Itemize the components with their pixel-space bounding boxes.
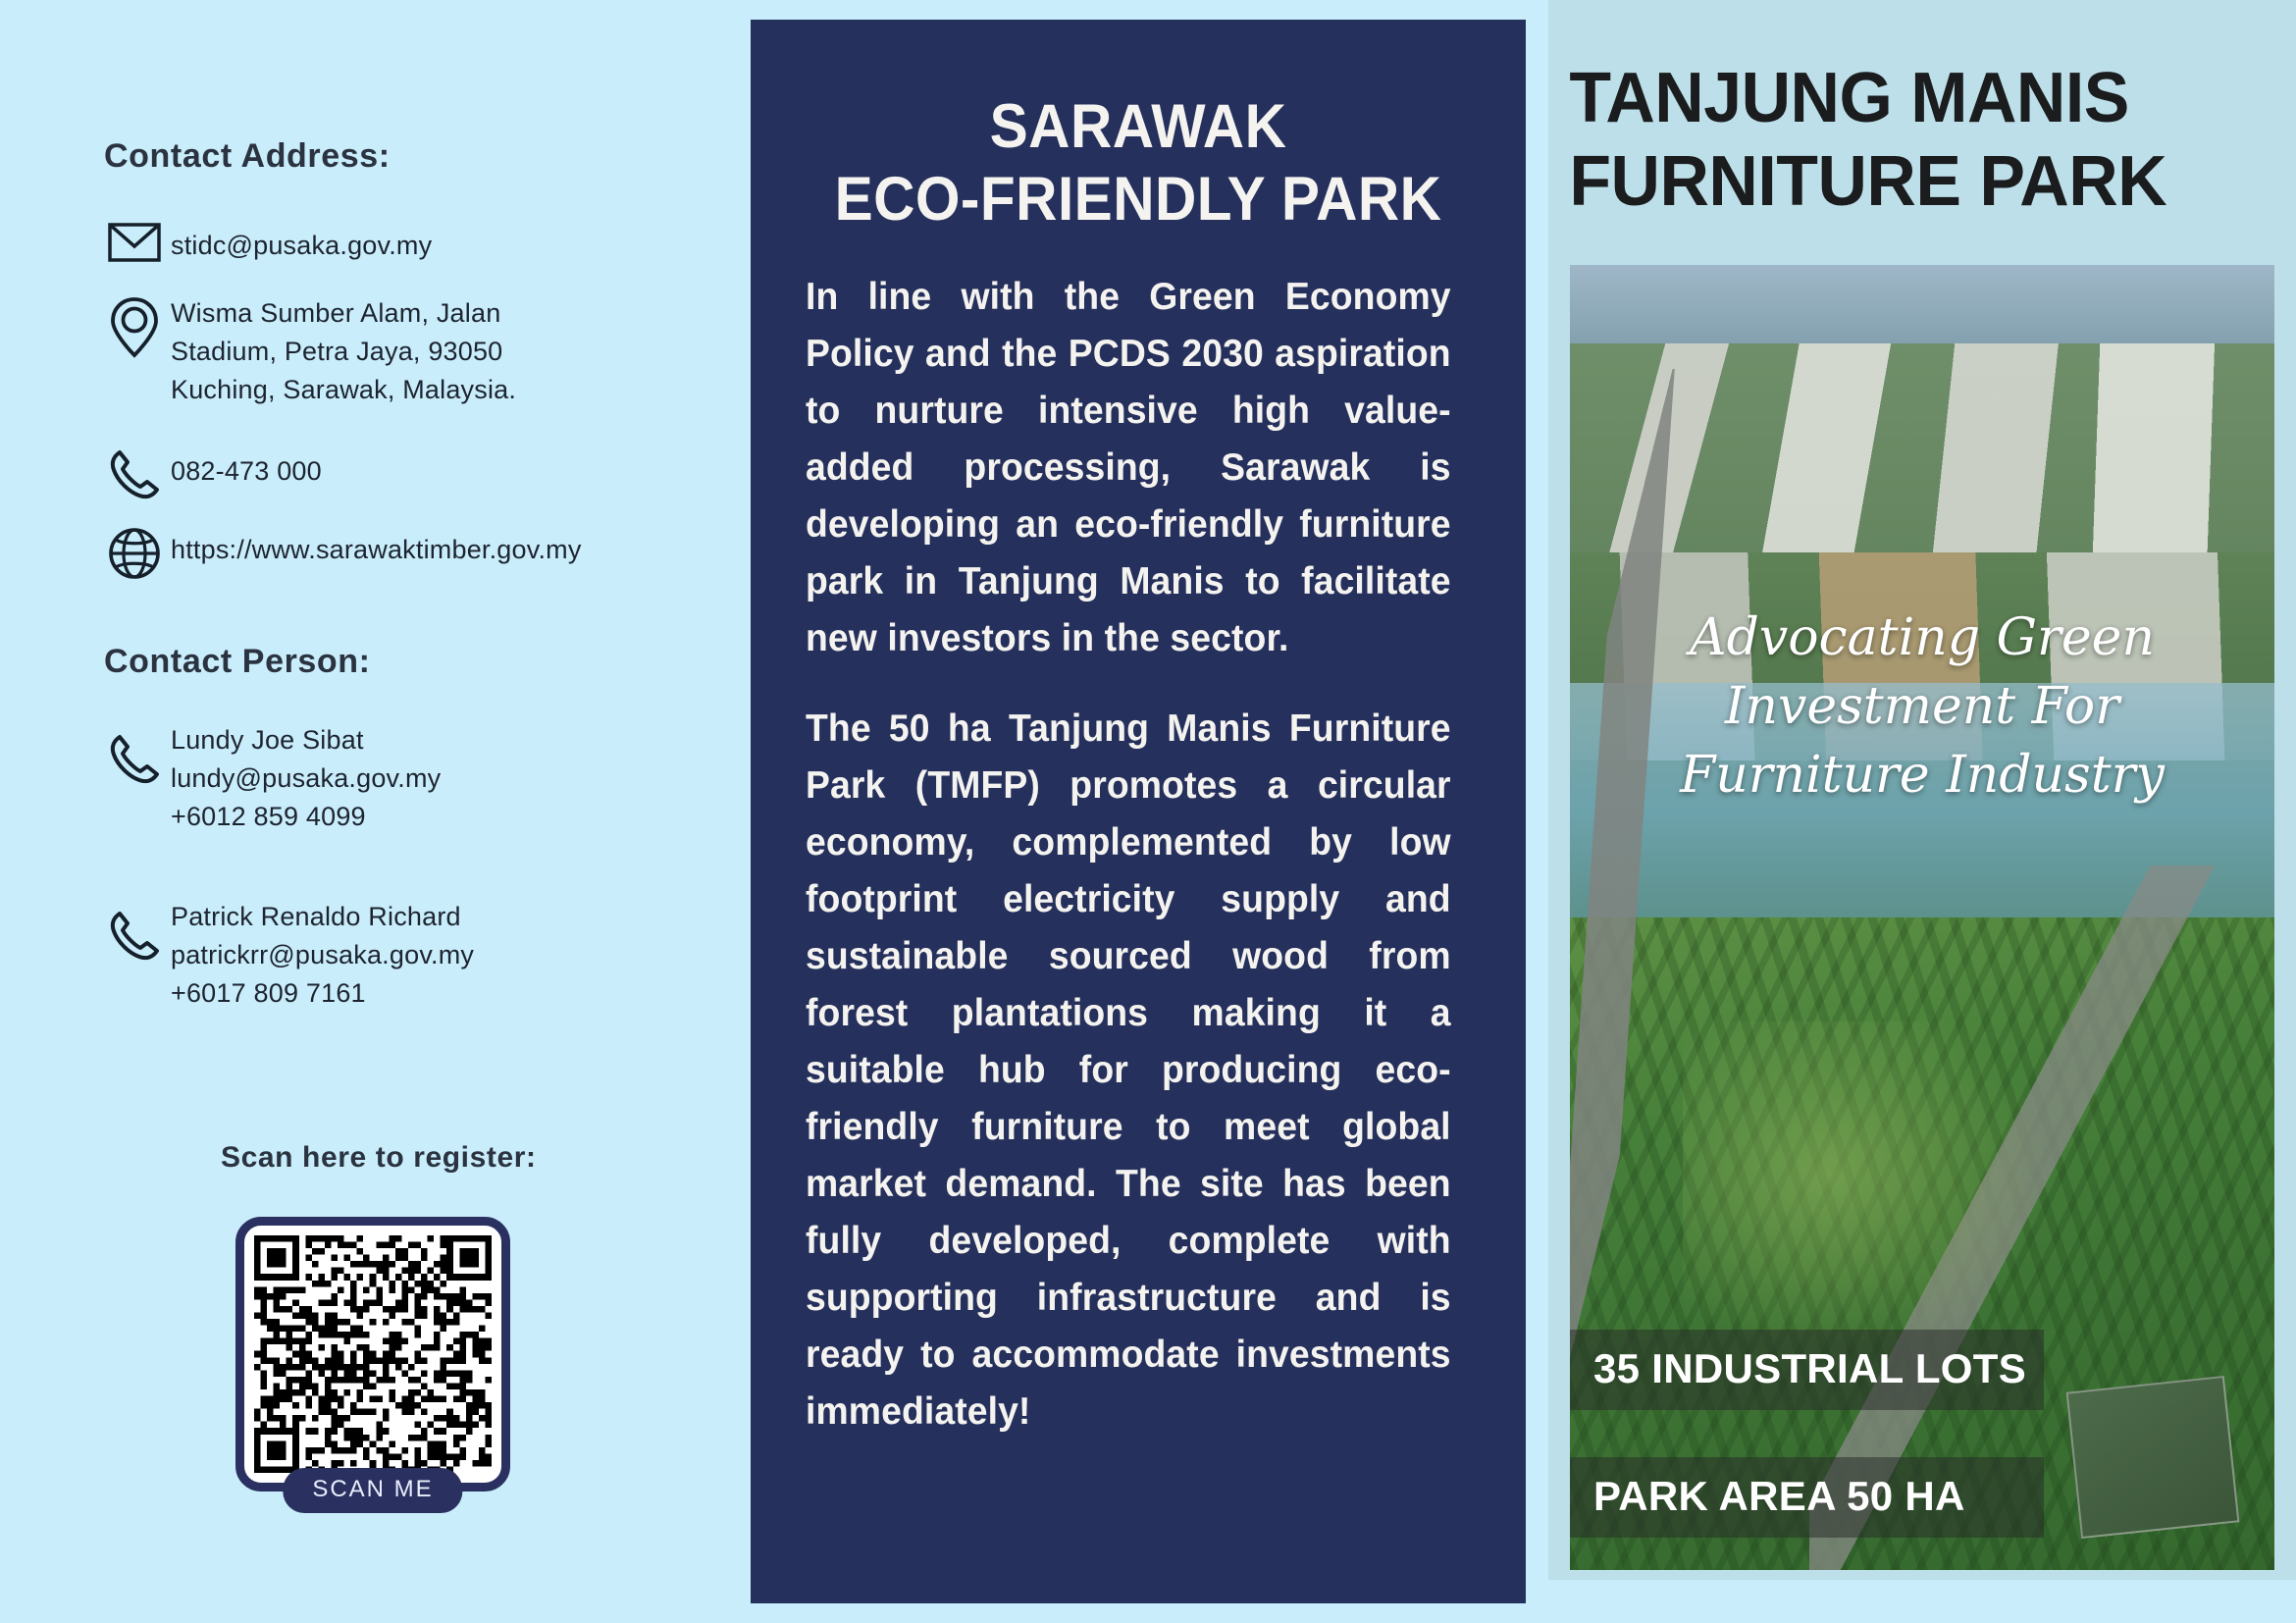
website-url[interactable]: https://www.sarawaktimber.gov.my	[171, 525, 582, 569]
right-title-line-2: FURNITURE PARK	[1569, 140, 2273, 224]
person-details: Patrick Renaldo Richard patrickrr@pusaka…	[171, 898, 474, 1013]
location-pin-icon	[98, 294, 171, 359]
address-line-1: Wisma Sumber Alam, Jalan	[171, 294, 640, 333]
person-name: Lundy Joe Sibat	[171, 721, 441, 759]
qr-code-frame	[235, 1217, 510, 1492]
right-title-line-1: TANJUNG MANIS	[1569, 57, 2273, 140]
contact-row-address: Wisma Sumber Alam, Jalan Stadium, Petra …	[98, 294, 706, 409]
center-title-line-2: ECO-FRIENDLY PARK	[814, 163, 1462, 236]
postal-address: Wisma Sumber Alam, Jalan Stadium, Petra …	[171, 294, 640, 409]
contact-panel: Contact Address: stidc@pusaka.gov.my Wis…	[0, 0, 751, 1623]
contact-row-email: stidc@pusaka.gov.my	[98, 221, 706, 265]
aerial-photo: Advocating Green Investment For Furnitur…	[1570, 265, 2274, 1570]
scan-me-badge: SCAN ME	[283, 1468, 462, 1513]
center-paragraph-1: In line with the Green Economy Policy an…	[806, 269, 1451, 667]
photo-building	[2066, 1376, 2240, 1539]
scan-register-heading: Scan here to register:	[221, 1141, 537, 1175]
contact-person-2: Patrick Renaldo Richard patrickrr@pusaka…	[98, 898, 726, 1013]
contact-row-phone: 082-473 000	[98, 446, 706, 501]
badge-park-area: PARK AREA 50 HA	[1570, 1457, 2044, 1538]
right-title: TANJUNG MANIS FURNITURE PARK	[1548, 0, 2273, 224]
envelope-icon	[98, 221, 171, 262]
person-name: Patrick Renaldo Richard	[171, 898, 474, 936]
phone-icon	[98, 446, 171, 501]
email-address[interactable]: stidc@pusaka.gov.my	[171, 221, 432, 265]
center-paragraph-2: The 50 ha Tanjung Manis Furniture Park (…	[806, 701, 1451, 1440]
address-line-2: Stadium, Petra Jaya, 93050	[171, 333, 640, 371]
phone-icon	[98, 898, 171, 963]
phone-icon	[98, 721, 171, 786]
brochure-page: Contact Address: stidc@pusaka.gov.my Wis…	[0, 0, 2296, 1623]
address-line-3: Kuching, Sarawak, Malaysia.	[171, 371, 640, 409]
right-panel: TANJUNG MANIS FURNITURE PARK Advocating …	[1548, 0, 2296, 1580]
contact-row-website: https://www.sarawaktimber.gov.my	[98, 525, 706, 580]
badge-industrial-lots: 35 INDUSTRIAL LOTS	[1570, 1330, 2044, 1410]
qr-code-block[interactable]: SCAN ME	[235, 1217, 510, 1492]
contact-address-heading: Contact Address:	[104, 137, 391, 176]
phone-number[interactable]: 082-473 000	[171, 446, 322, 491]
center-panel: SARAWAK ECO-FRIENDLY PARK In line with t…	[751, 20, 1526, 1603]
center-title-line-1: SARAWAK	[814, 90, 1462, 163]
qr-code-image[interactable]	[254, 1235, 492, 1473]
person-phone[interactable]: +6012 859 4099	[171, 798, 441, 836]
photo-open-field	[1683, 1021, 2049, 1361]
contact-person-heading: Contact Person:	[104, 643, 371, 681]
person-details: Lundy Joe Sibat lundy@pusaka.gov.my +601…	[171, 721, 441, 836]
person-email[interactable]: patrickrr@pusaka.gov.my	[171, 936, 474, 974]
center-body: In line with the Green Economy Policy an…	[751, 269, 1526, 1440]
person-email[interactable]: lundy@pusaka.gov.my	[171, 759, 441, 798]
person-phone[interactable]: +6017 809 7161	[171, 974, 474, 1013]
center-title: SARAWAK ECO-FRIENDLY PARK	[778, 20, 1499, 236]
contact-person-1: Lundy Joe Sibat lundy@pusaka.gov.my +601…	[98, 721, 726, 836]
globe-icon	[98, 525, 171, 580]
